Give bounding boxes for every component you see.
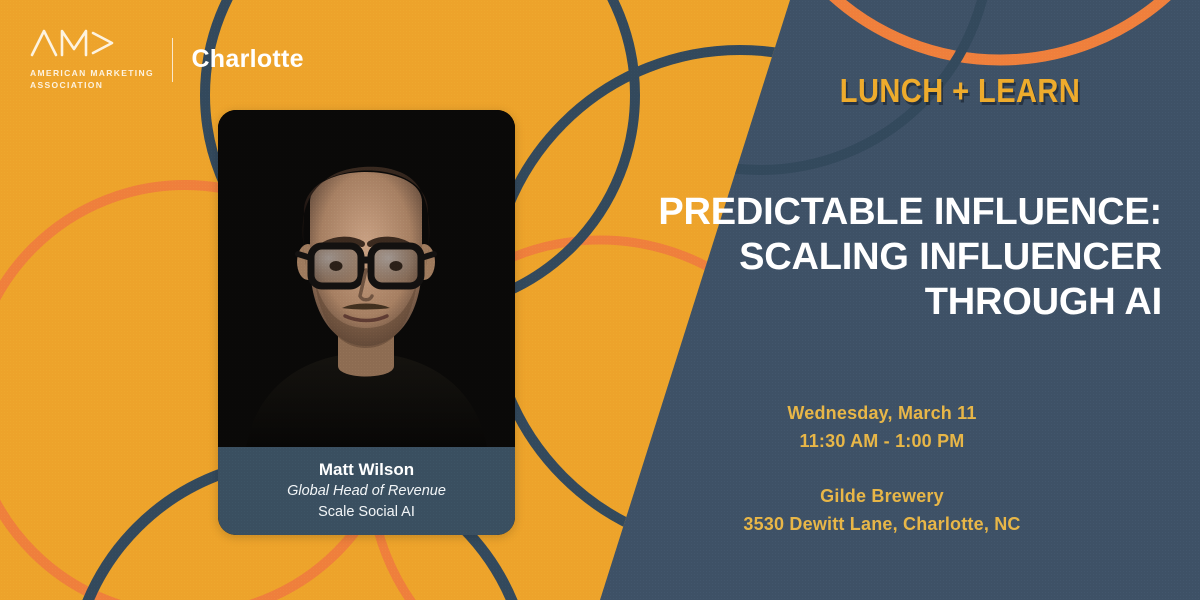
- speaker-card: Matt Wilson Global Head of Revenue Scale…: [218, 110, 515, 535]
- speaker-name: Matt Wilson: [319, 460, 414, 480]
- event-location: Gilde Brewery 3530 Dewitt Lane, Charlott…: [672, 483, 1092, 539]
- event-title-line-2: SCALING INFLUENCER: [642, 235, 1162, 280]
- venue-address: 3530 Dewitt Lane, Charlotte, NC: [672, 511, 1092, 539]
- event-time: 11:30 AM - 1:00 PM: [672, 428, 1092, 456]
- ama-charlotte-logo[interactable]: AMERICAN MARKETING ASSOCIATION Charlotte: [30, 28, 304, 92]
- ama-logo-wordmark: AMERICAN MARKETING ASSOCIATION: [30, 67, 154, 92]
- logo-divider: [172, 38, 174, 82]
- event-title-line-1: PREDICTABLE INFLUENCE:: [642, 190, 1162, 235]
- event-title-line-3: THROUGH AI: [642, 280, 1162, 325]
- ama-logo-mark: AMERICAN MARKETING ASSOCIATION: [30, 28, 154, 92]
- chapter-name: Charlotte: [191, 45, 303, 74]
- event-datetime: Wednesday, March 11 11:30 AM - 1:00 PM: [672, 400, 1092, 456]
- ama-wordmark-line1: AMERICAN MARKETING: [30, 67, 154, 79]
- event-kicker: LUNCH + LEARN: [840, 72, 1080, 110]
- event-flyer: AMERICAN MARKETING ASSOCIATION Charlotte: [0, 0, 1200, 600]
- event-date: Wednesday, March 11: [672, 400, 1092, 428]
- ama-monogram-icon: [30, 28, 116, 62]
- venue-name: Gilde Brewery: [672, 483, 1092, 511]
- speaker-nameplate: Matt Wilson Global Head of Revenue Scale…: [218, 447, 515, 535]
- speaker-photo: [218, 110, 515, 447]
- ama-wordmark-line2: ASSOCIATION: [30, 79, 154, 91]
- speaker-organization: Scale Social AI: [318, 503, 415, 522]
- event-title: PREDICTABLE INFLUENCE: SCALING INFLUENCE…: [642, 190, 1162, 326]
- speaker-role: Global Head of Revenue: [287, 482, 446, 501]
